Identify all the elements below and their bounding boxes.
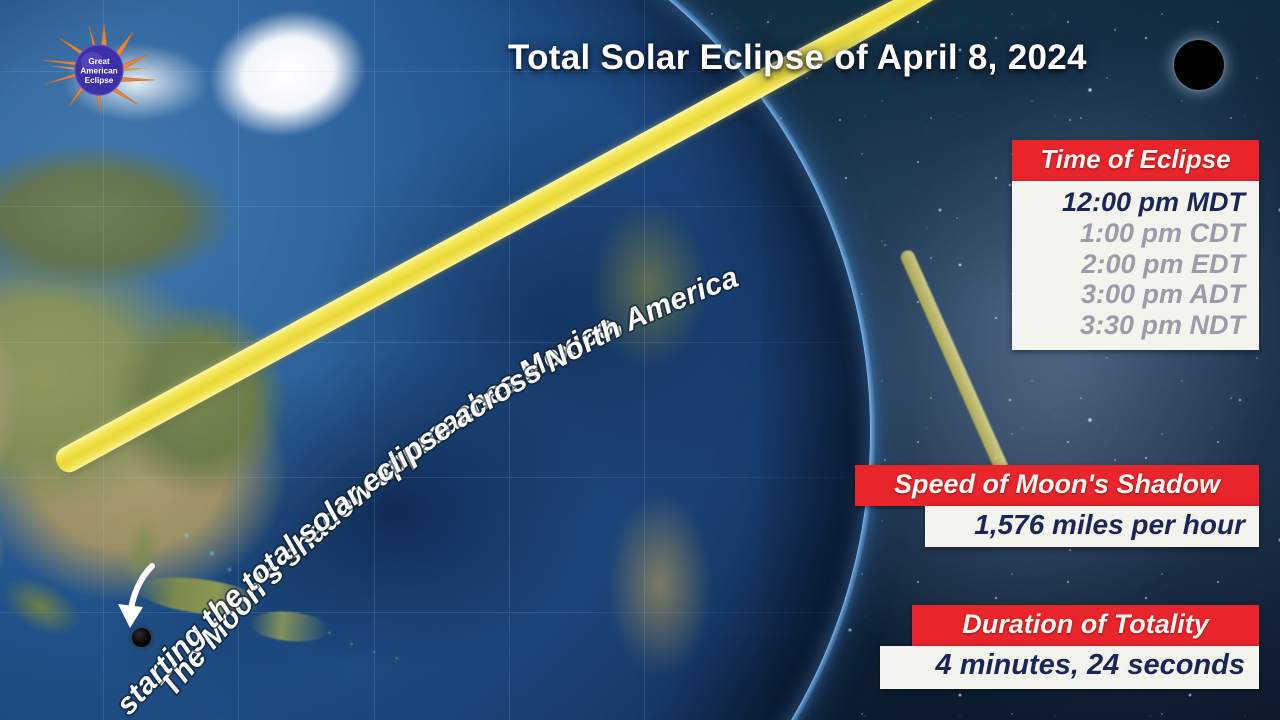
time-row-cdt: 1:00 pm CDT xyxy=(1026,218,1245,249)
time-row-adt: 3:00 pm ADT xyxy=(1026,279,1245,310)
eclipse-infographic: The Moon's shadow approaches Mexico, sta… xyxy=(0,0,1280,720)
moon-shadow-umbra-dot xyxy=(132,628,151,647)
panel-time-heading: Time of Eclipse xyxy=(1012,140,1259,181)
page-title: Total Solar Eclipse of April 8, 2024 xyxy=(508,38,1087,78)
time-row-mdt: 12:00 pm MDT xyxy=(1026,187,1245,218)
panel-speed-body: 1,576 miles per hour xyxy=(925,506,1259,547)
panel-time-of-eclipse: Time of Eclipse 12:00 pm MDT 1:00 pm CDT… xyxy=(1012,140,1259,350)
panel-duration-of-totality: Duration of Totality 4 minutes, 24 secon… xyxy=(880,605,1259,689)
total-eclipse-icon xyxy=(1157,23,1241,107)
panel-duration-heading: Duration of Totality xyxy=(912,605,1259,646)
logo-line-1: Great xyxy=(88,57,110,66)
time-row-ndt: 3:30 pm NDT xyxy=(1026,310,1245,341)
panel-speed-heading: Speed of Moon's Shadow xyxy=(855,465,1259,506)
panel-time-body: 12:00 pm MDT 1:00 pm CDT 2:00 pm EDT 3:0… xyxy=(1012,181,1259,350)
panel-duration-body: 4 minutes, 24 seconds xyxy=(880,646,1259,689)
time-row-edt: 2:00 pm EDT xyxy=(1026,249,1245,280)
great-american-eclipse-logo[interactable]: Great American Eclipse xyxy=(38,16,160,124)
logo-line-2: American xyxy=(80,66,117,75)
speed-value: 1,576 miles per hour xyxy=(939,509,1245,541)
panel-speed-of-shadow: Speed of Moon's Shadow 1,576 miles per h… xyxy=(855,465,1259,547)
duration-value: 4 minutes, 24 seconds xyxy=(894,649,1245,682)
logo-line-3: Eclipse xyxy=(85,76,114,85)
